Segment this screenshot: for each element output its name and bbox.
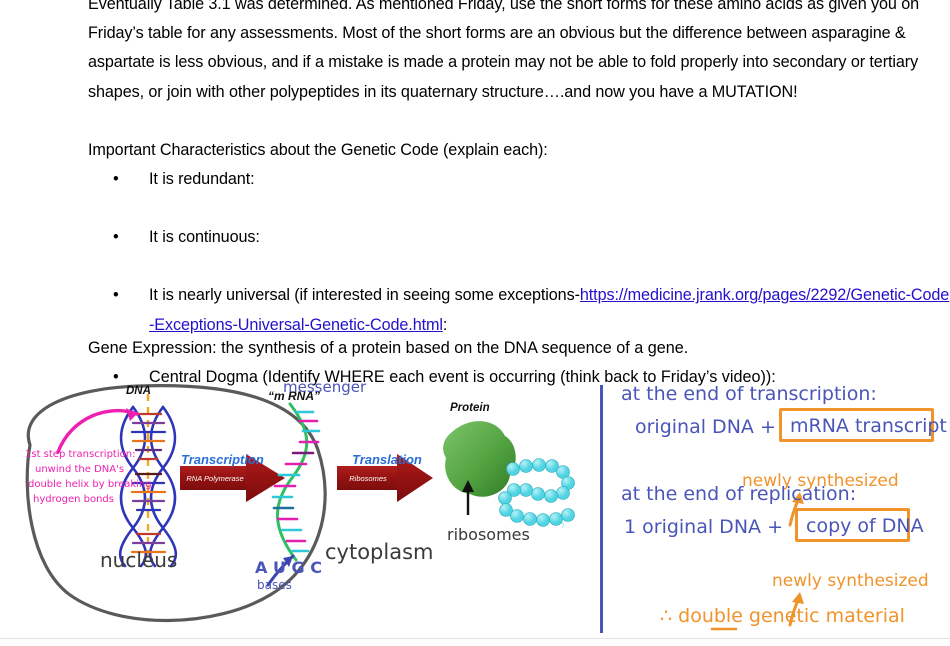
central-dogma-diagram: DNA “m RNA” Protein Transcription RNA Po… xyxy=(0,380,950,638)
conclusion-note: ∴ double genetic material xyxy=(660,605,905,627)
nucleus-annotation: nucleus xyxy=(100,548,177,572)
cytoplasm-annotation: cytoplasm xyxy=(325,540,434,564)
replication-note-heading: at the end of replication: xyxy=(621,483,856,505)
replication-note-left: 1 original DNA + xyxy=(624,516,783,538)
list-item-text-before-link: It is nearly universal (if interested in… xyxy=(149,286,580,304)
replication-newly-synthesized-note: newly synthesized xyxy=(772,571,929,591)
bases-letters-annotation: A U G C xyxy=(255,558,322,577)
list-item-text-after-link: : xyxy=(443,316,447,334)
heading-important-characteristics: Important Characteristics about the Gene… xyxy=(88,136,950,165)
pink-note-line-3: double helix by breaking xyxy=(28,479,152,490)
mrna-strand xyxy=(277,404,306,560)
transcription-label: Transcription xyxy=(181,452,264,467)
pink-note-line-4: hydrogen bonds xyxy=(33,494,114,505)
copy-of-dna-box: copy of DNA xyxy=(795,508,910,542)
list-item-label: It is redundant: xyxy=(149,165,950,194)
transcription-note-boxed: mRNA transcript xyxy=(790,415,947,437)
replication-newly-arrowhead xyxy=(792,592,804,604)
messenger-annotation: messenger xyxy=(283,378,366,396)
bullet-marker-icon: • xyxy=(88,223,149,252)
bases-word-annotation: bases xyxy=(257,578,292,592)
protein-blob xyxy=(443,421,516,497)
pink-note-line-2: unwind the DNA's xyxy=(35,464,124,475)
notes-page: Eventually Table 3.1 was determined. As … xyxy=(0,0,950,646)
document-text-block: Eventually Table 3.1 was determined. As … xyxy=(88,0,950,340)
rna-polymerase-label: RNA Polymerase xyxy=(182,474,248,483)
mrna-transcript-box: mRNA transcript xyxy=(779,408,934,442)
list-item-redundant: • It is redundant: xyxy=(88,165,950,194)
spacer xyxy=(88,194,950,223)
translation-label: Translation xyxy=(352,452,422,467)
amino-acid-beads xyxy=(499,459,575,527)
paragraph-intro: Eventually Table 3.1 was determined. As … xyxy=(88,0,950,107)
list-item-label: It is nearly universal (if interested in… xyxy=(149,281,950,339)
ribosomes-arrow-label: Ribosomes xyxy=(338,474,398,483)
heading-gene-expression: Gene Expression: the synthesis of a prot… xyxy=(88,334,948,363)
ribosomes-annotation: ribosomes xyxy=(447,525,530,544)
bullet-marker-icon: • xyxy=(88,165,149,194)
pink-pointer-arrow xyxy=(58,411,137,452)
dna-label: DNA xyxy=(126,385,151,397)
bullet-marker-icon: • xyxy=(88,281,149,310)
transcription-note-heading: at the end of transcription: xyxy=(621,383,877,405)
list-item-continuous: • It is continuous: xyxy=(88,223,950,252)
page-bottom-rule xyxy=(0,638,950,639)
spacer xyxy=(88,252,950,281)
list-item-label: It is continuous: xyxy=(149,223,950,252)
transcription-note-left: original DNA + xyxy=(635,416,776,438)
replication-note-boxed: copy of DNA xyxy=(806,515,924,537)
notes-divider xyxy=(600,385,603,633)
spacer xyxy=(88,107,950,136)
protein-label: Protein xyxy=(450,402,490,414)
pink-note-line-1: 1st step transcription: xyxy=(25,449,135,460)
list-item-nearly-universal: • It is nearly universal (if interested … xyxy=(88,281,950,339)
